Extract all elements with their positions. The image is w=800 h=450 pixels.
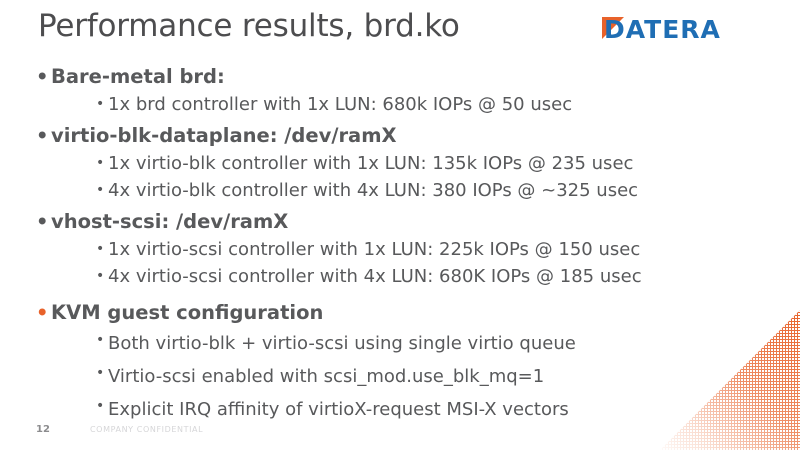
content-group: • vhost-scsi: /dev/ramX • 1x virtio-scsi…: [0, 208, 700, 290]
datera-logo: DATERA: [600, 14, 778, 44]
sub-bullet-item: • Both virtio-blk + virtio-scsi using si…: [0, 327, 700, 360]
sub-bullet-item: • 1x brd controller with 1x LUN: 680k IO…: [0, 91, 700, 118]
content-group: • KVM guest configuration • Both virtio-…: [0, 299, 700, 426]
sub-bullet-marker-icon: •: [96, 263, 104, 290]
bullet-heading-text: virtio-blk-dataplane: /dev/ramX: [51, 124, 397, 147]
sub-bullet-marker-icon: •: [96, 327, 104, 354]
bullet-marker-icon: •: [36, 122, 48, 150]
confidentiality-notice: COMPANY CONFIDENTIAL: [90, 425, 203, 434]
sub-bullet-text: Both virtio-blk + virtio-scsi using sing…: [108, 333, 576, 354]
content-group: • Bare-metal brd: • 1x brd controller wi…: [0, 63, 700, 118]
sub-bullet-item: • 4x virtio-blk controller with 4x LUN: …: [0, 177, 700, 204]
bullet-heading-kvm-guest-configuration: • KVM guest configuration: [0, 299, 700, 327]
content-group: • virtio-blk-dataplane: /dev/ramX • 1x v…: [0, 122, 700, 204]
sub-bullet-text: 4x virtio-scsi controller with 4x LUN: 6…: [108, 266, 642, 287]
sub-bullet-item: • 4x virtio-scsi controller with 4x LUN:…: [0, 263, 700, 290]
sub-bullet-item: • Explicit IRQ affinity of virtioX-reque…: [0, 393, 700, 426]
bullet-marker-icon: •: [36, 63, 48, 91]
sub-bullet-text: 1x brd controller with 1x LUN: 680k IOPs…: [108, 94, 572, 115]
sub-bullet-marker-icon: •: [96, 177, 104, 204]
sub-bullet-item: • 1x virtio-blk controller with 1x LUN: …: [0, 150, 700, 177]
slide-body-content: • Bare-metal brd: • 1x brd controller wi…: [0, 63, 700, 426]
sub-bullet-text: Virtio-scsi enabled with scsi_mod.use_bl…: [108, 366, 544, 387]
sub-bullet-text: 1x virtio-blk controller with 1x LUN: 13…: [108, 153, 633, 174]
bullet-heading-virtio-blk-dataplane: • virtio-blk-dataplane: /dev/ramX: [0, 122, 700, 150]
sub-bullet-text: 1x virtio-scsi controller with 1x LUN: 2…: [108, 239, 640, 260]
sub-bullet-item: • 1x virtio-scsi controller with 1x LUN:…: [0, 236, 700, 263]
presentation-slide: Performance results, brd.ko DATERA • Bar…: [0, 0, 800, 450]
sub-bullet-item: • Virtio-scsi enabled with scsi_mod.use_…: [0, 360, 700, 393]
sub-bullet-marker-icon: •: [96, 150, 104, 177]
sub-bullet-marker-icon: •: [96, 236, 104, 263]
sub-bullet-marker-icon: •: [96, 91, 104, 118]
sub-bullet-text: 4x virtio-blk controller with 4x LUN: 38…: [108, 180, 638, 201]
bullet-heading-bare-metal-brd: • Bare-metal brd:: [0, 63, 700, 91]
bullet-heading-vhost-scsi: • vhost-scsi: /dev/ramX: [0, 208, 700, 236]
bullet-heading-text: vhost-scsi: /dev/ramX: [51, 210, 288, 233]
bullet-heading-text: KVM guest configuration: [51, 301, 323, 324]
bullet-marker-icon: •: [36, 208, 48, 236]
sub-bullet-marker-icon: •: [96, 360, 104, 387]
bullet-marker-icon: •: [36, 299, 48, 327]
sub-bullet-marker-icon: •: [96, 393, 104, 420]
svg-text:DATERA: DATERA: [604, 15, 721, 44]
bullet-heading-text: Bare-metal brd:: [51, 65, 225, 88]
sub-bullet-text: Explicit IRQ affinity of virtioX-request…: [108, 399, 569, 420]
slide-title: Performance results, brd.ko: [38, 8, 460, 44]
slide-page-number: 12: [36, 424, 50, 435]
